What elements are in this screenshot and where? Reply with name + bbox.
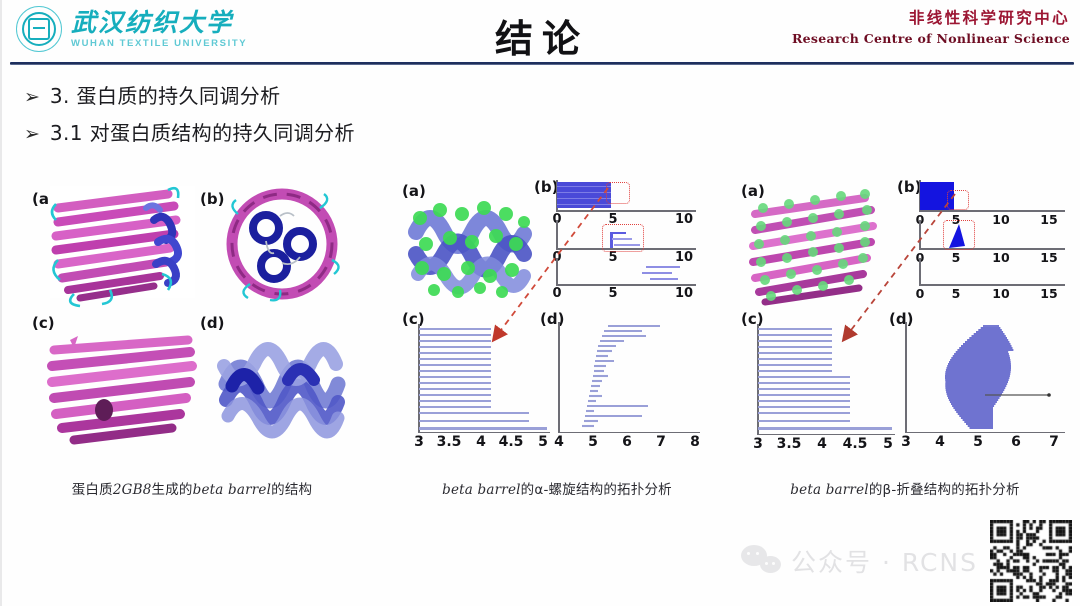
caption-figure-2: beta barrel的α-螺旋结构的拓扑分析 — [402, 478, 712, 498]
bullet-item-1: ➢ 3. 蛋白质的持久同调分析 — [24, 80, 355, 109]
tick-4: 4 — [474, 434, 488, 450]
caption-part-italic: beta barrel — [442, 482, 521, 498]
caption-part-italic: beta barrel — [193, 482, 272, 498]
centre-name-cn: 非线性科学研究中心 — [792, 10, 1070, 28]
tick-5: 5 — [536, 434, 550, 450]
bullet-marker-icon: ➢ — [24, 125, 40, 144]
caption-part: 的α-螺旋结构的拓扑分析 — [521, 482, 672, 498]
chart-mid-d: 4 5 6 7 8 — [550, 322, 706, 452]
tick-4: 4 — [933, 434, 947, 450]
protein-structure-art — [20, 172, 360, 492]
chart-right-c: 3 3.5 4 4.5 5 — [751, 324, 897, 452]
tick-4: 4 — [552, 434, 566, 450]
tick-8: 8 — [688, 434, 702, 450]
tick-6: 6 — [620, 434, 634, 450]
tick-7: 7 — [654, 434, 668, 450]
tick-4.5: 4.5 — [498, 434, 524, 450]
wechat-icon — [741, 545, 783, 577]
caption-part: 蛋白质 — [72, 482, 113, 498]
centre-name-en: Research Centre of Nonlinear Science — [792, 32, 1070, 46]
figure-row: (a) (b) (c) (d) — [2, 172, 1080, 502]
tick-5: 5 — [881, 436, 895, 452]
tick-6: 6 — [1009, 434, 1023, 450]
slide: 武汉纺织大学 WUHAN TEXTILE UNIVERSITY 结论 非线性科学… — [0, 0, 1080, 606]
caption-part-italic: beta barrel — [790, 482, 869, 498]
tick-3.5: 3.5 — [436, 434, 462, 450]
tick-3: 3 — [412, 434, 426, 450]
tick-5: 5 — [971, 434, 985, 450]
wechat-watermark: 公众号 · RCNS — [741, 520, 1072, 602]
tick-3: 3 — [751, 436, 765, 452]
header-divider — [10, 62, 1074, 65]
caption-part: 生成的 — [152, 482, 193, 498]
chart-right-d: 3 4 5 6 7 — [897, 322, 1075, 452]
barcode-bars-right-d — [897, 322, 1075, 434]
wechat-account-label: 公众号 · RCNS — [791, 543, 978, 579]
caption-figure-3: beta barrel的β-折叠结构的拓扑分析 — [740, 478, 1070, 498]
chart-mid-c: 3 3.5 4 4.5 5 — [412, 324, 552, 452]
bullet-list: ➢ 3. 蛋白质的持久同调分析 ➢ 3.1 对蛋白质结构的持久同调分析 — [24, 80, 355, 154]
tick-5: 5 — [586, 434, 600, 450]
barcode-bars-mid-d — [550, 322, 706, 434]
tick-7: 7 — [1047, 434, 1061, 450]
caption-part: 的β-折叠结构的拓扑分析 — [869, 482, 1020, 498]
caption-part: 的结构 — [271, 482, 312, 498]
bullet-item-2: ➢ 3.1 对蛋白质结构的持久同调分析 — [24, 117, 355, 146]
tick-3.5: 3.5 — [775, 436, 803, 452]
tick-4: 4 — [815, 436, 829, 452]
tick-3: 3 — [899, 434, 913, 450]
caption-part-italic: 2GB8 — [113, 482, 152, 498]
tick-4.5: 4.5 — [841, 436, 869, 452]
research-centre-label: 非线性科学研究中心 Research Centre of Nonlinear S… — [792, 10, 1070, 46]
caption-figure-1: 蛋白质2GB8生成的beta barrel的结构 — [12, 478, 372, 498]
bullet-text-2: 3.1 对蛋白质结构的持久同调分析 — [50, 117, 355, 146]
bullet-marker-icon: ➢ — [24, 88, 40, 107]
qr-code — [990, 520, 1072, 602]
slide-header: 武汉纺织大学 WUHAN TEXTILE UNIVERSITY 结论 非线性科学… — [2, 0, 1080, 66]
bullet-text-1: 3. 蛋白质的持久同调分析 — [50, 80, 281, 109]
